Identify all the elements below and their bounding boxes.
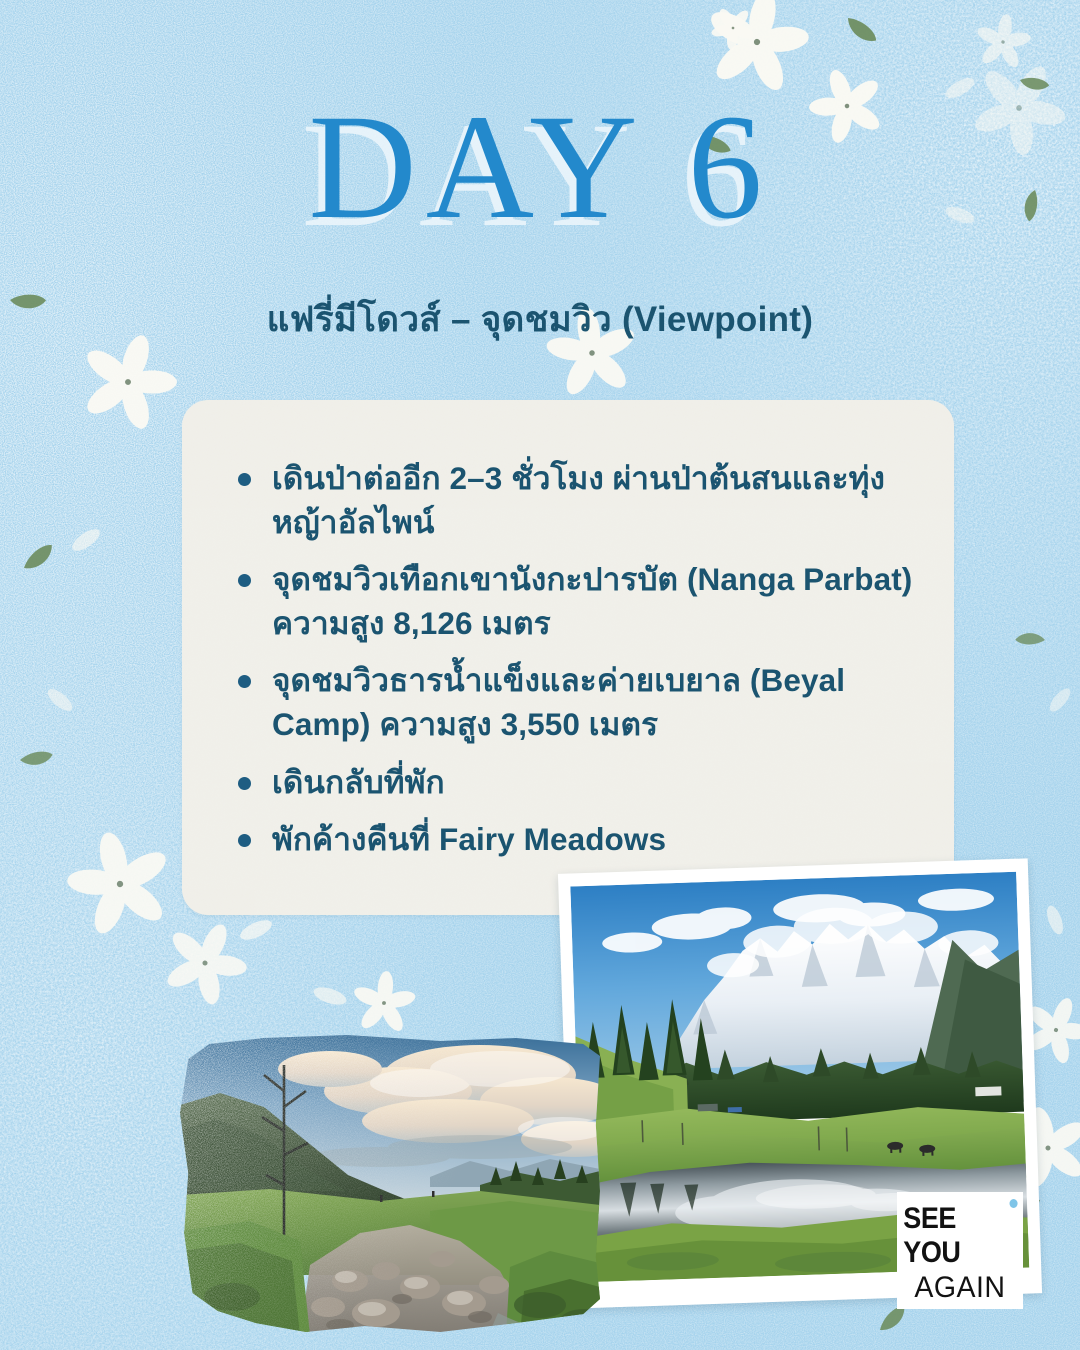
list-item: พักค้างคืนที่ Fairy Meadows [234, 817, 914, 861]
list-item: เดินกลับที่พัก [234, 760, 914, 804]
list-item: จุดชมวิวเทือกเขานังกะปารบัต (Nanga Parba… [234, 557, 914, 645]
photo-fairy-meadows-rocky-trail [180, 1035, 600, 1335]
photo-rocky-trail-image [180, 1035, 600, 1335]
logo-line-2: AGAIN [914, 1271, 1005, 1305]
page-subtitle: แฟรี่มีโดวส์ – จุดชมวิว (Viewpoint) [0, 292, 1080, 347]
page-title-wrapper: DAY 6 [0, 92, 1080, 242]
itinerary-bullet-list: เดินป่าต่ออีก 2–3 ชั่วโมง ผ่านป่าต้นสนแล… [234, 456, 914, 861]
logo-line-1-text: SEE YOU [903, 1202, 960, 1269]
logo-accent-dot-icon [1010, 1199, 1018, 1208]
page-title: DAY 6 [308, 92, 771, 242]
list-item: จุดชมวิวธารน้ำแข็งและค่ายเบยาล (Beyal Ca… [234, 658, 914, 746]
list-item: เดินป่าต่ออีก 2–3 ชั่วโมง ผ่านป่าต้นสนแล… [234, 456, 914, 544]
card-content: เดินป่าต่ออีก 2–3 ชั่วโมง ผ่านป่าต้นสนแล… [182, 400, 954, 861]
logo-line-1: SEE YOU [903, 1202, 1016, 1270]
itinerary-card: เดินป่าต่ออีก 2–3 ชั่วโมง ผ่านป่าต้นสนแล… [182, 400, 954, 915]
brand-logo-badge: SEE YOU AGAIN [897, 1192, 1023, 1309]
